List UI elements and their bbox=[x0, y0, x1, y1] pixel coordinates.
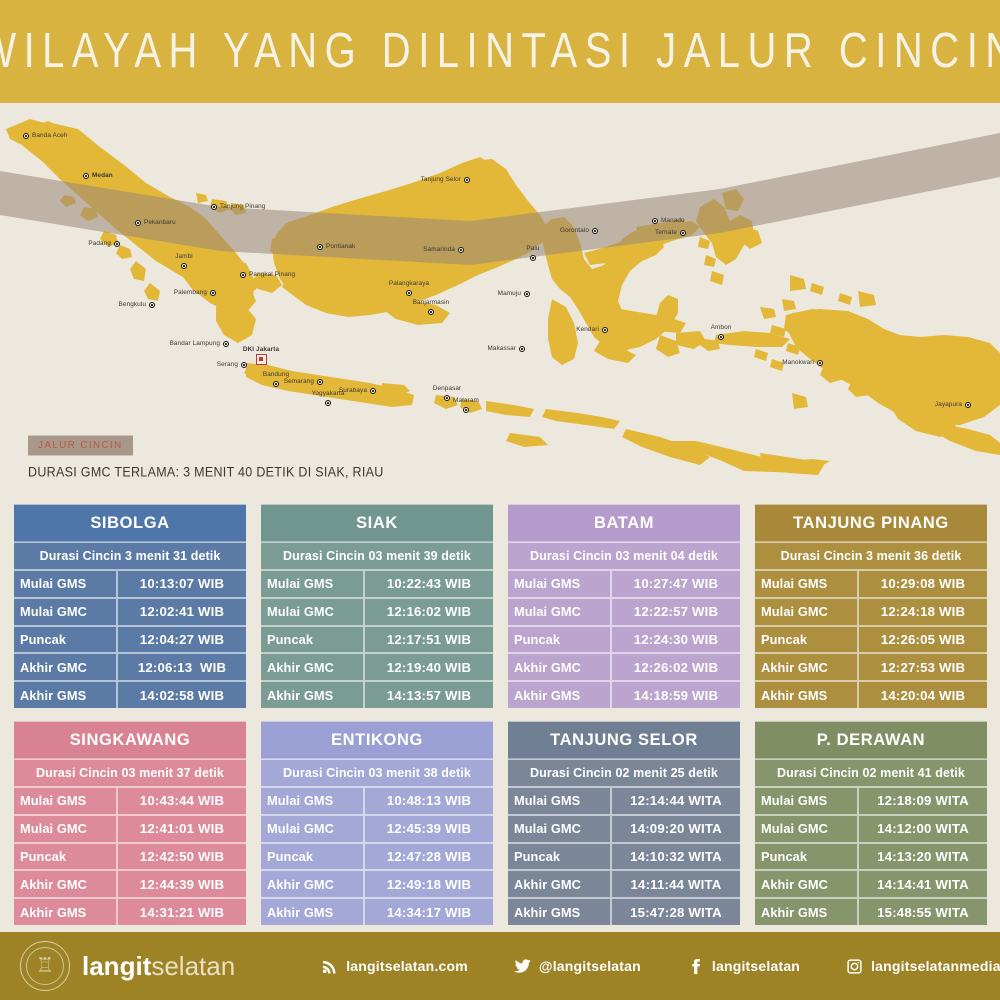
city-marker bbox=[181, 263, 187, 269]
langitselatan-seal-logo: ♖ bbox=[20, 941, 70, 991]
row-label: Mulai GMC bbox=[755, 599, 857, 625]
city-label: Samarinda bbox=[423, 246, 455, 253]
row-label: Puncak bbox=[508, 844, 610, 870]
footer-link-label: langitselatan bbox=[712, 958, 800, 974]
brand-block: ♖ langitselatan bbox=[20, 941, 235, 991]
row-value: 15:47:28 WITA bbox=[610, 899, 740, 925]
row-value: 12:04:27 WIB bbox=[116, 627, 246, 653]
row-label: Puncak bbox=[755, 844, 857, 870]
row-value: 12:47:28 WIB bbox=[363, 844, 493, 870]
card-city-name: SIAK bbox=[356, 513, 398, 532]
brand-wordmark: langitselatan bbox=[82, 953, 235, 979]
card-duration-label: Durasi Cincin 03 menit 39 detik bbox=[283, 549, 471, 563]
city-label: Medan bbox=[92, 172, 113, 179]
row-label: Puncak bbox=[261, 627, 363, 653]
row-value: 14:02:58 WIB bbox=[116, 682, 246, 708]
row-label: Akhir GMC bbox=[14, 871, 116, 897]
city-marker bbox=[602, 327, 608, 333]
city-marker bbox=[23, 133, 29, 139]
city-label: Banda Aceh bbox=[32, 132, 67, 139]
city-marker bbox=[592, 228, 598, 234]
timing-card: ENTIKONGDurasi Cincin 03 menit 38 detikM… bbox=[261, 722, 493, 925]
row-label: Akhir GMS bbox=[508, 682, 610, 708]
timing-card: SINGKAWANGDurasi Cincin 03 menit 37 deti… bbox=[14, 722, 246, 925]
city-marker bbox=[458, 247, 464, 253]
table-row: Puncak12:24:30 WIB bbox=[508, 625, 740, 653]
row-value: 12:14:44 WITA bbox=[610, 788, 740, 814]
city-marker bbox=[240, 272, 246, 278]
footer-links: langitselatan.com@langitselatanlangitsel… bbox=[321, 958, 1000, 975]
table-row: Mulai GMS10:48:13 WIB bbox=[261, 786, 493, 814]
table-row: Mulai GMS10:27:47 WIB bbox=[508, 569, 740, 597]
table-row: Puncak14:10:32 WITA bbox=[508, 842, 740, 870]
table-row: Puncak14:13:20 WITA bbox=[755, 842, 987, 870]
city-label: Jayapura bbox=[935, 401, 962, 408]
rss-icon bbox=[321, 958, 338, 975]
row-label: Mulai GMS bbox=[14, 571, 116, 597]
city-label: Makassar bbox=[488, 345, 517, 352]
row-label: Mulai GMC bbox=[755, 816, 857, 842]
row-value: 12:45:39 WIB bbox=[363, 816, 493, 842]
city-label: Tanjung Pinang bbox=[220, 203, 265, 210]
city-label: DKI Jakarta bbox=[243, 346, 279, 353]
card-city-name: ENTIKONG bbox=[331, 730, 423, 749]
timing-card: SIAKDurasi Cincin 03 menit 39 detikMulai… bbox=[261, 505, 493, 708]
table-row: Mulai GMS10:13:07 WIB bbox=[14, 569, 246, 597]
table-row: Mulai GMS10:43:44 WIB bbox=[14, 786, 246, 814]
city-label: Gorontalo bbox=[560, 227, 589, 234]
card-duration-label: Durasi Cincin 03 menit 38 detik bbox=[283, 766, 471, 780]
row-label: Mulai GMC bbox=[508, 599, 610, 625]
row-value: 14:12:00 WITA bbox=[857, 816, 987, 842]
card-duration: Durasi Cincin 03 menit 38 detik bbox=[261, 758, 493, 786]
city-marker bbox=[464, 177, 470, 183]
row-value: 14:13:20 WITA bbox=[857, 844, 987, 870]
footer-link[interactable]: langitselatan bbox=[687, 958, 800, 975]
row-label: Puncak bbox=[14, 627, 116, 653]
table-row: Puncak12:04:27 WIB bbox=[14, 625, 246, 653]
row-value: 12:24:18 WIB bbox=[857, 599, 987, 625]
footer-link[interactable]: @langitselatan bbox=[514, 958, 641, 975]
card-header: SIAK bbox=[261, 505, 493, 542]
row-value: 15:48:55 WITA bbox=[857, 899, 987, 925]
card-duration: Durasi Cincin 03 menit 39 detik bbox=[261, 541, 493, 569]
card-duration: Durasi Cincin 02 menit 41 detik bbox=[755, 758, 987, 786]
table-row: Akhir GMC14:14:41 WITA bbox=[755, 869, 987, 897]
card-duration: Durasi Cincin 3 menit 31 detik bbox=[14, 541, 246, 569]
city-marker bbox=[273, 381, 279, 387]
city-marker bbox=[114, 241, 120, 247]
row-label: Akhir GMS bbox=[14, 682, 116, 708]
row-label: Akhir GMS bbox=[261, 682, 363, 708]
table-row: Mulai GMS10:22:43 WIB bbox=[261, 569, 493, 597]
city-label: Jambi bbox=[175, 253, 193, 260]
table-row: Mulai GMS12:14:44 WITA bbox=[508, 786, 740, 814]
city-marker bbox=[149, 302, 155, 308]
infographic-page: WILAYAH YANG DILINTASI JALUR CINCIN bbox=[0, 0, 1000, 1000]
legend-chip-label: JALUR CINCIN bbox=[38, 440, 123, 452]
city-marker bbox=[530, 255, 536, 261]
table-row: Akhir GMS14:18:59 WIB bbox=[508, 680, 740, 708]
row-label: Mulai GMC bbox=[14, 599, 116, 625]
city-label: Banjarmasin bbox=[413, 299, 450, 306]
row-label: Akhir GMC bbox=[261, 654, 363, 680]
table-row: Akhir GMS14:34:17 WIB bbox=[261, 897, 493, 925]
card-duration: Durasi Cincin 03 menit 04 detik bbox=[508, 541, 740, 569]
footer-link[interactable]: langitselatan.com bbox=[321, 958, 468, 975]
card-header: ENTIKONG bbox=[261, 722, 493, 759]
row-value: 12:41:01 WIB bbox=[116, 816, 246, 842]
row-value: 12:17:51 WIB bbox=[363, 627, 493, 653]
city-marker bbox=[519, 346, 525, 352]
row-value: 10:48:13 WIB bbox=[363, 788, 493, 814]
city-label: Tanjung Selor bbox=[421, 176, 461, 183]
city-label: Ambon bbox=[711, 324, 732, 331]
city-marker bbox=[325, 400, 331, 406]
row-label: Akhir GMC bbox=[755, 654, 857, 680]
card-header: BATAM bbox=[508, 505, 740, 542]
footer-link[interactable]: langitselatanmedia bbox=[846, 958, 1000, 975]
city-marker bbox=[210, 290, 216, 296]
table-row: Puncak12:47:28 WIB bbox=[261, 842, 493, 870]
city-label: Bengkulu bbox=[119, 301, 146, 308]
timing-card: TANJUNG PINANGDurasi Cincin 3 menit 36 d… bbox=[755, 505, 987, 708]
row-value: 12:06:13 WIB bbox=[116, 654, 246, 680]
row-value: 10:43:44 WIB bbox=[116, 788, 246, 814]
header-banner: WILAYAH YANG DILINTASI JALUR CINCIN bbox=[0, 0, 1000, 103]
row-value: 12:26:02 WIB bbox=[610, 654, 740, 680]
card-duration-label: Durasi Cincin 3 menit 31 detik bbox=[40, 549, 221, 563]
city-marker bbox=[317, 244, 323, 250]
instagram-icon bbox=[846, 958, 863, 975]
table-row: Akhir GMC12:19:40 WIB bbox=[261, 652, 493, 680]
table-row: Mulai GMS12:18:09 WITA bbox=[755, 786, 987, 814]
city-label: Manado bbox=[661, 217, 685, 224]
city-marker bbox=[370, 388, 376, 394]
city-marker bbox=[444, 395, 450, 401]
row-value: 10:22:43 WIB bbox=[363, 571, 493, 597]
card-duration-label: Durasi Cincin 03 menit 37 detik bbox=[36, 766, 224, 780]
table-row: Mulai GMS10:29:08 WIB bbox=[755, 569, 987, 597]
table-row: Akhir GMC12:44:39 WIB bbox=[14, 869, 246, 897]
row-value: 14:34:17 WIB bbox=[363, 899, 493, 925]
row-value: 14:13:57 WIB bbox=[363, 682, 493, 708]
row-label: Puncak bbox=[508, 627, 610, 653]
city-label: Palembang bbox=[174, 289, 207, 296]
card-header: SINGKAWANG bbox=[14, 722, 246, 759]
page-title: WILAYAH YANG DILINTASI JALUR CINCIN bbox=[0, 24, 1000, 79]
timing-card: TANJUNG SELORDurasi Cincin 02 menit 25 d… bbox=[508, 722, 740, 925]
city-marker bbox=[817, 360, 823, 366]
city-marker bbox=[965, 402, 971, 408]
city-label: Bandar Lampung bbox=[170, 340, 220, 347]
row-value: 10:27:47 WIB bbox=[610, 571, 740, 597]
row-value: 14:11:44 WITA bbox=[610, 871, 740, 897]
capital-marker bbox=[256, 354, 267, 365]
table-row: Akhir GMC14:11:44 WITA bbox=[508, 869, 740, 897]
row-value: 12:18:09 WITA bbox=[857, 788, 987, 814]
table-row: Akhir GMC12:27:53 WIB bbox=[755, 652, 987, 680]
row-value: 14:14:41 WITA bbox=[857, 871, 987, 897]
city-label: Manokwari bbox=[782, 359, 814, 366]
card-duration-label: Durasi Cincin 3 menit 36 detik bbox=[781, 549, 962, 563]
card-header: P. DERAWAN bbox=[755, 722, 987, 759]
city-marker bbox=[241, 362, 247, 368]
row-label: Mulai GMS bbox=[755, 571, 857, 597]
row-label: Akhir GMC bbox=[261, 871, 363, 897]
row-label: Mulai GMS bbox=[261, 571, 363, 597]
city-marker bbox=[211, 204, 217, 210]
row-value: 14:20:04 WIB bbox=[857, 682, 987, 708]
city-label: Yogyakarta bbox=[312, 390, 345, 397]
row-label: Akhir GMC bbox=[508, 871, 610, 897]
row-label: Mulai GMS bbox=[755, 788, 857, 814]
row-value: 12:44:39 WIB bbox=[116, 871, 246, 897]
card-duration: Durasi Cincin 03 menit 37 detik bbox=[14, 758, 246, 786]
table-row: Akhir GMS14:31:21 WIB bbox=[14, 897, 246, 925]
row-value: 10:29:08 WIB bbox=[857, 571, 987, 597]
card-header: SIBOLGA bbox=[14, 505, 246, 542]
timing-card: SIBOLGADurasi Cincin 3 menit 31 detikMul… bbox=[14, 505, 246, 708]
city-label: Kendari bbox=[576, 326, 599, 333]
row-value: 12:49:18 WIB bbox=[363, 871, 493, 897]
row-label: Mulai GMC bbox=[508, 816, 610, 842]
table-row: Mulai GMC12:45:39 WIB bbox=[261, 814, 493, 842]
row-value: 12:16:02 WIB bbox=[363, 599, 493, 625]
city-label: Padang bbox=[88, 240, 111, 247]
table-row: Akhir GMC12:06:13 WIB bbox=[14, 652, 246, 680]
card-header: TANJUNG PINANG bbox=[755, 505, 987, 542]
row-label: Mulai GMC bbox=[261, 599, 363, 625]
table-row: Akhir GMS14:02:58 WIB bbox=[14, 680, 246, 708]
city-label: Pangkal Pinang bbox=[249, 271, 295, 278]
table-row: Akhir GMS15:47:28 WITA bbox=[508, 897, 740, 925]
row-value: 14:09:20 WITA bbox=[610, 816, 740, 842]
table-row: Mulai GMC12:16:02 WIB bbox=[261, 597, 493, 625]
indonesia-map: Banda AcehMedanTanjung PinangPekanbaruPa… bbox=[0, 103, 1000, 495]
table-row: Akhir GMC12:26:02 WIB bbox=[508, 652, 740, 680]
row-label: Mulai GMS bbox=[508, 788, 610, 814]
city-marker bbox=[428, 309, 434, 315]
table-row: Akhir GMS15:48:55 WITA bbox=[755, 897, 987, 925]
row-value: 12:42:50 WIB bbox=[116, 844, 246, 870]
twitter-icon bbox=[514, 958, 531, 975]
row-label: Akhir GMC bbox=[14, 654, 116, 680]
card-duration: Durasi Cincin 3 menit 36 detik bbox=[755, 541, 987, 569]
card-city-name: TANJUNG SELOR bbox=[550, 730, 698, 749]
city-marker bbox=[680, 230, 686, 236]
city-marker bbox=[718, 334, 724, 340]
brand-light: selatan bbox=[151, 951, 235, 981]
row-label: Mulai GMS bbox=[261, 788, 363, 814]
legend-chip-jalur-cincin: JALUR CINCIN bbox=[28, 436, 133, 456]
city-label: Palangkaraya bbox=[389, 280, 429, 287]
city-label: Semarang bbox=[284, 378, 314, 385]
card-city-name: SINGKAWANG bbox=[70, 730, 191, 749]
row-label: Mulai GMS bbox=[508, 571, 610, 597]
row-label: Akhir GMS bbox=[261, 899, 363, 925]
row-label: Mulai GMS bbox=[14, 788, 116, 814]
row-value: 10:13:07 WIB bbox=[116, 571, 246, 597]
table-row: Mulai GMC14:12:00 WITA bbox=[755, 814, 987, 842]
card-header: TANJUNG SELOR bbox=[508, 722, 740, 759]
city-label: Palu bbox=[526, 245, 539, 252]
city-label: Denpasar bbox=[433, 385, 462, 392]
table-row: Mulai GMC12:02:41 WIB bbox=[14, 597, 246, 625]
row-label: Akhir GMC bbox=[508, 654, 610, 680]
card-city-name: TANJUNG PINANG bbox=[793, 513, 949, 532]
table-row: Puncak12:42:50 WIB bbox=[14, 842, 246, 870]
row-label: Puncak bbox=[755, 627, 857, 653]
table-row: Mulai GMC14:09:20 WITA bbox=[508, 814, 740, 842]
city-label: Bandung bbox=[263, 371, 289, 378]
city-label: Ternate bbox=[655, 229, 677, 236]
city-marker bbox=[524, 291, 530, 297]
facebook-icon bbox=[687, 958, 704, 975]
row-label: Puncak bbox=[14, 844, 116, 870]
table-row: Puncak12:26:05 WIB bbox=[755, 625, 987, 653]
row-value: 12:19:40 WIB bbox=[363, 654, 493, 680]
card-duration-label: Durasi Cincin 03 menit 04 detik bbox=[530, 549, 718, 563]
row-value: 14:31:21 WIB bbox=[116, 899, 246, 925]
row-value: 12:02:41 WIB bbox=[116, 599, 246, 625]
row-value: 12:24:30 WIB bbox=[610, 627, 740, 653]
city-label: Mataram bbox=[453, 397, 479, 404]
row-label: Akhir GMS bbox=[508, 899, 610, 925]
table-row: Mulai GMC12:22:57 WIB bbox=[508, 597, 740, 625]
table-row: Mulai GMC12:41:01 WIB bbox=[14, 814, 246, 842]
row-label: Mulai GMC bbox=[14, 816, 116, 842]
row-value: 12:22:57 WIB bbox=[610, 599, 740, 625]
row-value: 12:27:53 WIB bbox=[857, 654, 987, 680]
row-label: Akhir GMS bbox=[755, 682, 857, 708]
card-city-name: BATAM bbox=[594, 513, 654, 532]
row-label: Akhir GMC bbox=[755, 871, 857, 897]
legend-caption: DURASI GMC TERLAMA: 3 MENIT 40 DETIK DI … bbox=[28, 464, 384, 479]
card-duration-label: Durasi Cincin 02 menit 41 detik bbox=[777, 766, 965, 780]
card-city-name: SIBOLGA bbox=[90, 513, 169, 532]
timing-card: BATAMDurasi Cincin 03 menit 04 detikMula… bbox=[508, 505, 740, 708]
city-label: Mamuju bbox=[498, 290, 521, 297]
footer-link-label: langitselatan.com bbox=[346, 958, 468, 974]
city-marker bbox=[135, 220, 141, 226]
city-marker bbox=[223, 341, 229, 347]
table-row: Akhir GMS14:13:57 WIB bbox=[261, 680, 493, 708]
map-svg bbox=[0, 103, 1000, 495]
city-label: Pontianak bbox=[326, 243, 355, 250]
city-marker bbox=[317, 379, 323, 385]
city-marker bbox=[652, 218, 658, 224]
card-city-name: P. DERAWAN bbox=[817, 730, 925, 749]
card-duration-label: Durasi Cincin 02 menit 25 detik bbox=[530, 766, 718, 780]
row-value: 14:10:32 WITA bbox=[610, 844, 740, 870]
city-timing-cards: SIBOLGADurasi Cincin 3 menit 31 detikMul… bbox=[14, 505, 986, 925]
row-label: Akhir GMS bbox=[14, 899, 116, 925]
timing-card: P. DERAWANDurasi Cincin 02 menit 41 deti… bbox=[755, 722, 987, 925]
city-marker bbox=[83, 173, 89, 179]
city-marker bbox=[463, 407, 469, 413]
table-row: Mulai GMC12:24:18 WIB bbox=[755, 597, 987, 625]
footer-link-label: langitselatanmedia bbox=[871, 958, 1000, 974]
row-label: Akhir GMS bbox=[755, 899, 857, 925]
footer-bar: ♖ langitselatan langitselatan.com@langit… bbox=[0, 932, 1000, 1000]
row-value: 14:18:59 WIB bbox=[610, 682, 740, 708]
city-label: Serang bbox=[217, 361, 238, 368]
city-marker bbox=[406, 290, 412, 296]
row-label: Puncak bbox=[261, 844, 363, 870]
card-duration: Durasi Cincin 02 menit 25 detik bbox=[508, 758, 740, 786]
table-row: Akhir GMS14:20:04 WIB bbox=[755, 680, 987, 708]
table-row: Akhir GMC12:49:18 WIB bbox=[261, 869, 493, 897]
row-value: 12:26:05 WIB bbox=[857, 627, 987, 653]
table-row: Puncak12:17:51 WIB bbox=[261, 625, 493, 653]
row-label: Mulai GMC bbox=[261, 816, 363, 842]
city-label: Pekanbaru bbox=[144, 219, 176, 226]
footer-link-label: @langitselatan bbox=[539, 958, 641, 974]
brand-bold: langit bbox=[82, 951, 151, 981]
